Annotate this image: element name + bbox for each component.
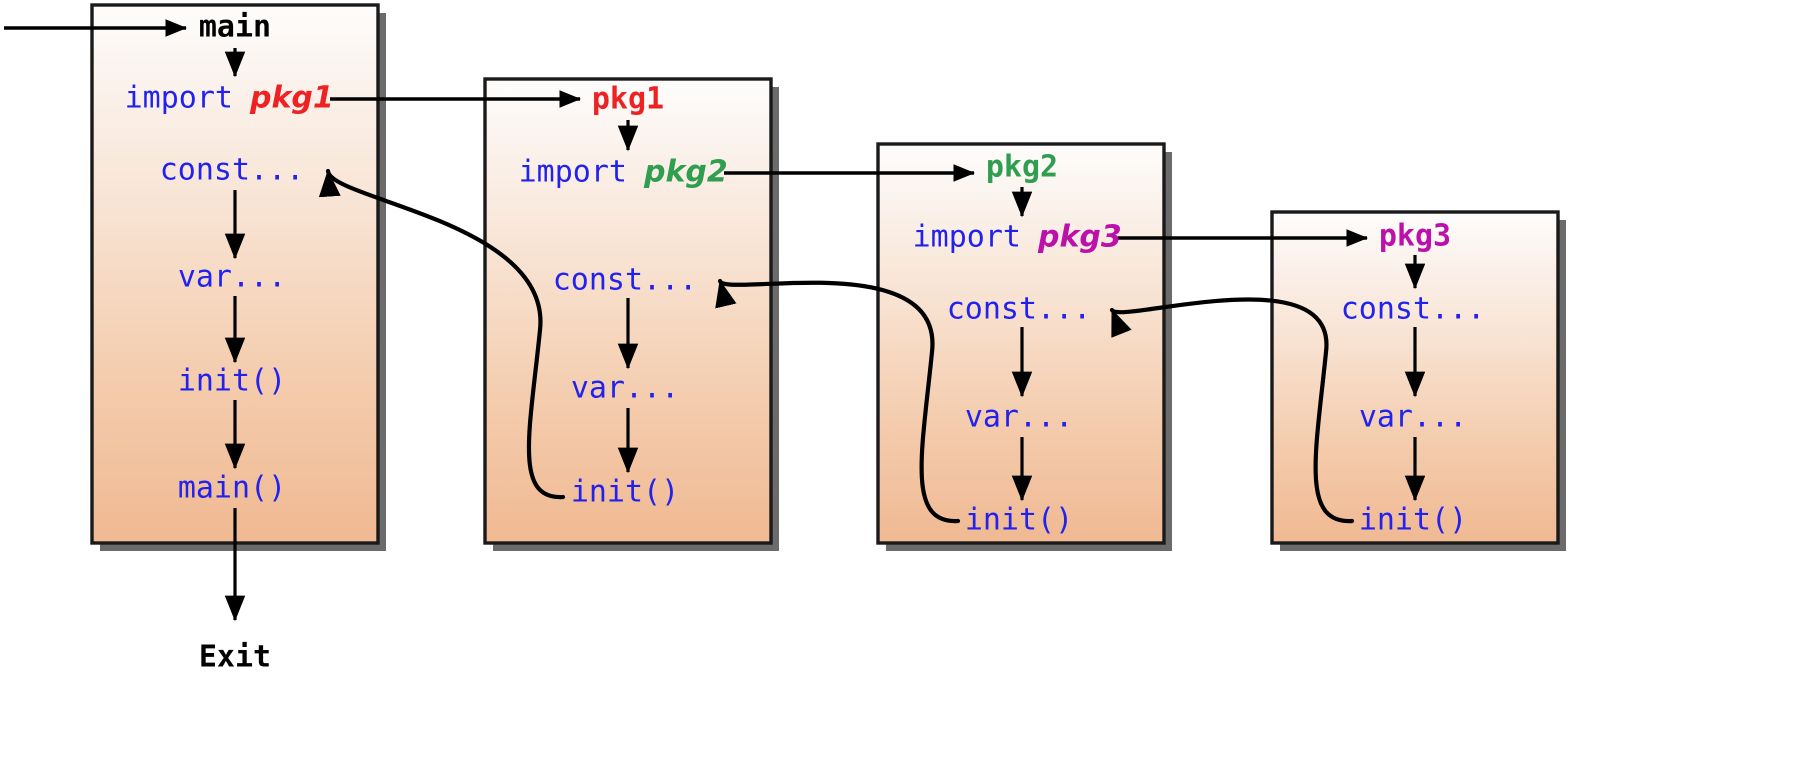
pkg1-init: init() — [571, 475, 679, 510]
main-import-keyword: import — [125, 81, 233, 116]
pkg1-import-arg-pkg2: pkg2 — [643, 155, 728, 190]
pkg2-init: init() — [965, 503, 1073, 538]
exit-group: Exit — [199, 640, 271, 675]
pkg2-import-arg-pkg3: pkg3 — [1037, 220, 1122, 255]
pkg3-init: init() — [1359, 503, 1467, 538]
diagram-canvas: main import pkg1 const... var... init() … — [0, 0, 1819, 782]
main-const: const... — [160, 153, 305, 188]
main-var: var... — [178, 260, 286, 295]
pkg3-const: const... — [1341, 292, 1486, 327]
main-mainfunc: main() — [178, 471, 286, 506]
pkg3-var: var... — [1359, 400, 1467, 435]
return-arrows — [328, 171, 1352, 521]
package-init-diagram: main import pkg1 const... var... init() … — [0, 0, 1819, 782]
main-import-arg-pkg1: pkg1 — [249, 81, 334, 116]
main-title: main — [199, 10, 271, 45]
pkg2-title: pkg2 — [986, 150, 1058, 185]
pkg1-var: var... — [571, 371, 679, 406]
pkg1-const: const... — [553, 263, 698, 298]
pkg2-import-keyword: import — [913, 220, 1021, 255]
main-init: init() — [178, 364, 286, 399]
pkg2-const: const... — [947, 292, 1092, 327]
pkg2-var: var... — [965, 400, 1073, 435]
exit-label: Exit — [199, 640, 271, 675]
pkg1-title: pkg1 — [592, 82, 664, 117]
pkg1-import-keyword: import — [519, 155, 627, 190]
pkg3-title: pkg3 — [1379, 219, 1451, 254]
